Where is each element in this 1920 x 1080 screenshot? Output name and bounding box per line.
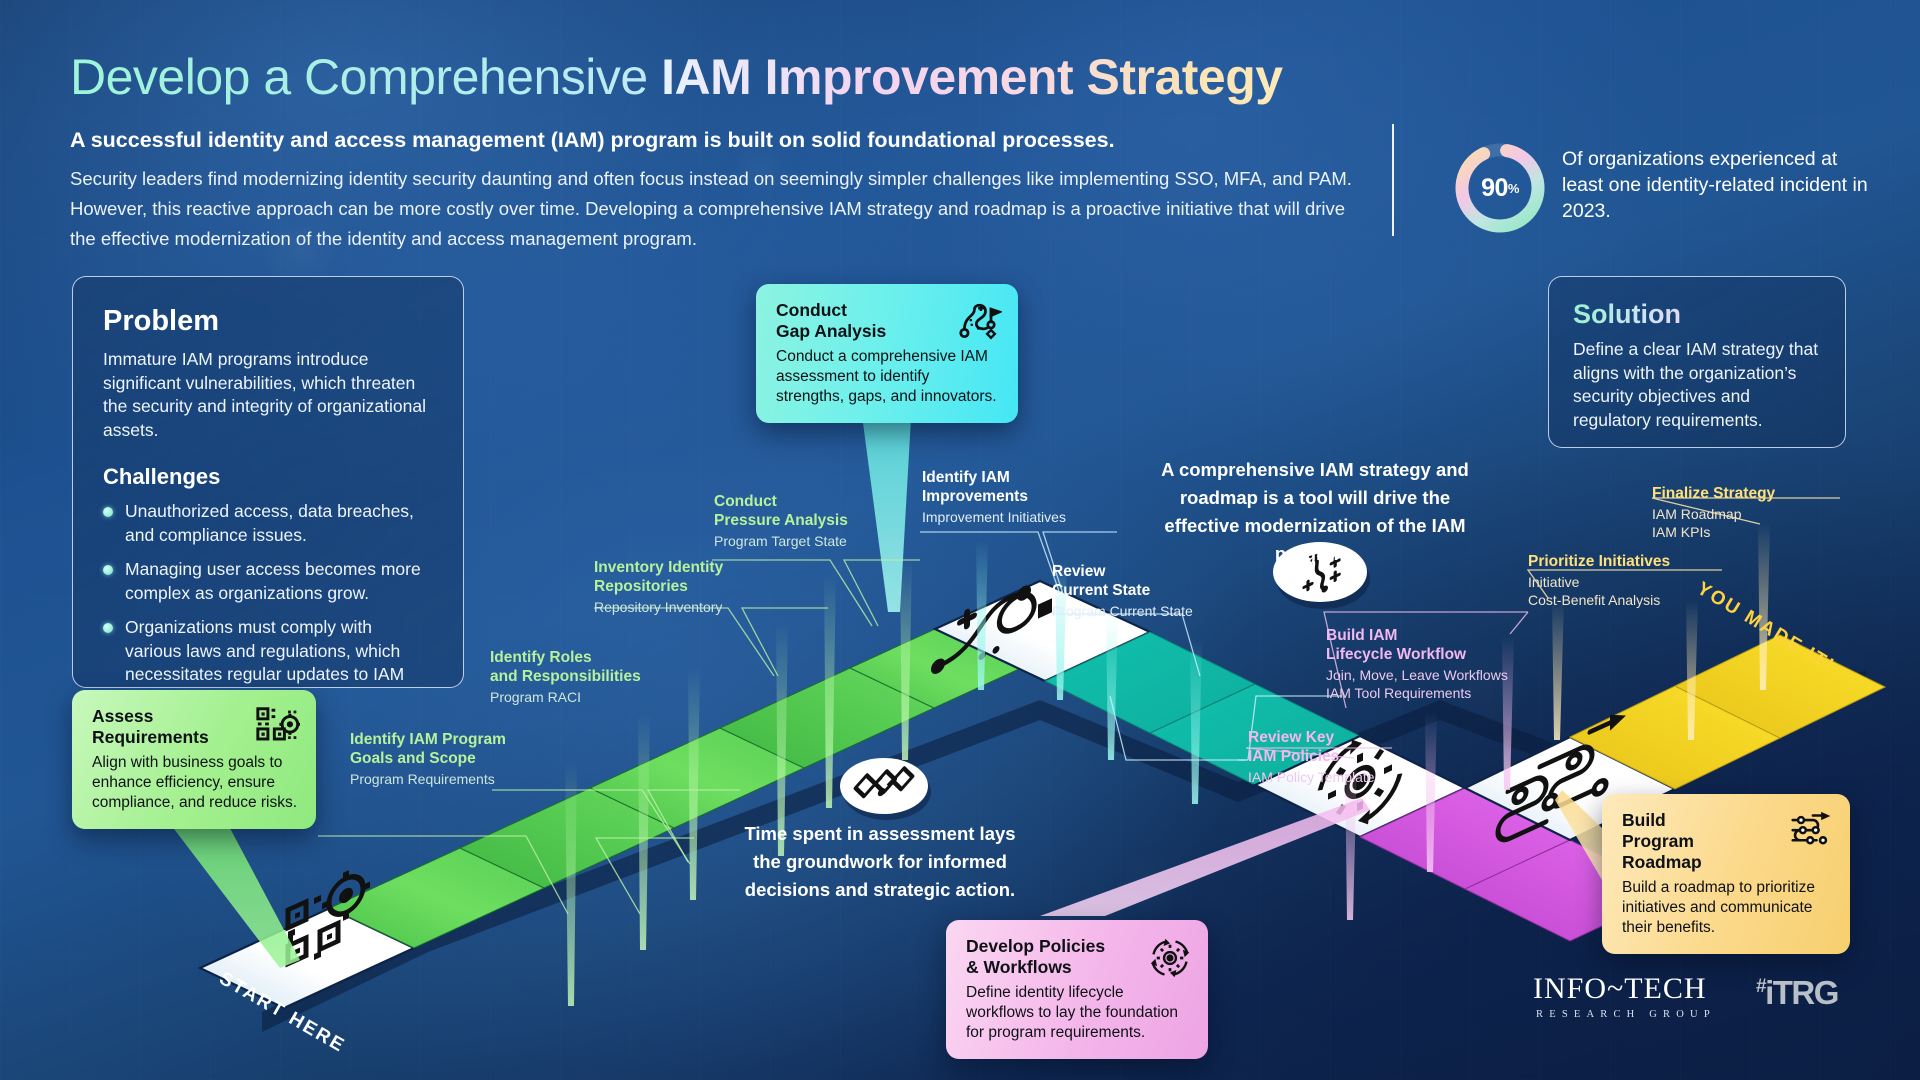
step-subtitle: Program RACI (490, 688, 700, 706)
list-item-label: Managing user access becomes more comple… (125, 559, 421, 603)
step-title: Build IAM Lifecycle Workflow (1326, 626, 1576, 664)
stat-caption: Of organizations experienced at least on… (1562, 146, 1872, 224)
you-made-it-label: YOU MADE IT! (1693, 578, 1839, 678)
strategy-caption: A comprehensive IAM strategy and roadmap… (1160, 456, 1470, 568)
header-body: Security leaders find modernizing identi… (70, 164, 1355, 254)
step-label-finalize-strategy: Finalize Strategy IAM Roadmap IAM KPIs (1652, 484, 1872, 541)
step-title: Identify IAM Program Goals and Scope (350, 730, 560, 768)
tile-step-11 (1675, 635, 1885, 738)
info-tech-logo: INFO~TECH RESEARCH GROUP (1533, 972, 1716, 1020)
qr-target-icon (288, 861, 370, 972)
itrg-logo: #iTRG (1756, 974, 1838, 1012)
step-subtitle: Program Requirements (350, 770, 560, 788)
callout-body: Align with business goals to enhance eff… (92, 753, 298, 813)
step-label-review-key-iam-policies: Review Key IAM Policies IAM Policy Templ… (1248, 728, 1458, 786)
callout-conduct-gap-analysis: Conduct Gap Analysis Conduct a comprehen… (756, 284, 1018, 423)
tile-step-8 (1360, 788, 1570, 889)
bullet-icon (103, 565, 113, 575)
step-label-conduct-pressure-analysis: Conduct Pressure Analysis Program Target… (714, 492, 924, 550)
step-subtitle: Join, Move, Leave Workflows IAM Tool Req… (1326, 666, 1576, 702)
strategy-flag-icon (958, 300, 1002, 344)
step-label-inventory-identity-repositories: Inventory Identity Repositories Reposito… (594, 558, 804, 616)
step-label-identify-iam-program-goals-and-scope: Identify IAM Program Goals and Scope Pro… (350, 730, 560, 788)
step-label-build-iam-lifecycle-workflow: Build IAM Lifecycle Workflow Join, Move,… (1326, 626, 1576, 702)
qr-target-icon (256, 706, 300, 750)
callout-develop-policies-workflows: Develop Policies & Workflows Define iden… (946, 920, 1208, 1059)
callout-body: Conduct a comprehensive IAM assessment t… (776, 347, 1000, 407)
list-item: Unauthorized access, data breaches, and … (103, 500, 433, 547)
beam-policies (1040, 798, 1370, 916)
tile-step-10 (1570, 686, 1780, 789)
step-title: Prioritize Initiatives (1528, 552, 1758, 571)
problem-heading: Problem (103, 305, 433, 338)
callout-body: Build a roadmap to prioritize initiative… (1622, 878, 1832, 938)
step-subtitle: IAM Roadmap IAM KPIs (1652, 505, 1872, 541)
tile-step-4 (720, 668, 934, 768)
step-label-identify-iam-improvements: Identify IAM Improvements Improvement In… (922, 468, 1132, 526)
roadmap-paths-icon (1790, 810, 1834, 854)
beam-roadmap (1555, 790, 1602, 880)
step-subtitle: Program Target State (714, 532, 924, 550)
challenges-heading: Challenges (103, 464, 433, 490)
step-title: Identify IAM Improvements (922, 468, 1132, 506)
callout-assess-requirements: Assess Requirements Align with business … (72, 690, 316, 829)
page-title: Develop a Comprehensive IAM Improvement … (70, 48, 1283, 106)
problem-panel: Problem Immature IAM programs introduce … (72, 276, 464, 688)
strategy-path-icon (931, 573, 1052, 683)
step-title: Identify Roles and Responsibilities (490, 648, 700, 686)
header-divider (1392, 124, 1394, 236)
stat-donut: 90% (1450, 138, 1550, 238)
solution-panel: Solution Define a clear IAM strategy tha… (1548, 276, 1846, 448)
header-lede: A successful identity and access managem… (70, 128, 1360, 153)
tile-step-3 (590, 728, 804, 828)
tile-step-1 (330, 848, 544, 948)
tile-step-2 (460, 788, 674, 888)
tile-step-6 (1045, 632, 1255, 733)
info-tech-logo-tagline: RESEARCH GROUP (1536, 1009, 1716, 1020)
step-subtitle: Program Current State (1052, 602, 1262, 620)
step-title: Review Key IAM Policies (1248, 728, 1458, 766)
bullet-icon (103, 623, 113, 633)
gear-cycle-icon (1148, 936, 1192, 980)
assessment-caption: Time spent in assessment lays the ground… (740, 820, 1020, 904)
callout-body: Define identity lifecycle workflows to l… (966, 983, 1190, 1043)
start-here-label: START HERE (215, 968, 349, 1058)
itrg-name: iTRG (1765, 974, 1838, 1011)
step-label-review-current-state: Review Current State Program Current Sta… (1052, 562, 1262, 620)
solution-body: Define a clear IAM strategy that aligns … (1573, 338, 1821, 432)
step-label-identify-roles-and-responsibilities: Identify Roles and Responsibilities Prog… (490, 648, 700, 706)
step-title: Finalize Strategy (1652, 484, 1872, 503)
solution-heading: Solution (1573, 299, 1821, 330)
callout-build-program-roadmap: Build Program Roadmap Build a roadmap to… (1602, 794, 1850, 954)
step-title: Review Current State (1052, 562, 1262, 600)
step-title: Conduct Pressure Analysis (714, 492, 924, 530)
info-tech-logo-name: INFO~TECH (1533, 972, 1716, 1006)
list-item-label: Unauthorized access, data breaches, and … (125, 501, 414, 545)
binoculars-icon-badge (840, 754, 931, 820)
bullet-icon (103, 507, 113, 517)
stat-value: 90% (1450, 138, 1550, 238)
challenges-list: Unauthorized access, data breaches, and … (103, 500, 433, 710)
step-subtitle: IAM Policy Template (1248, 768, 1458, 786)
step-subtitle: Improvement Initiatives (922, 508, 1132, 526)
page-title-part2: IAM Improvement Strategy (661, 49, 1282, 105)
list-item: Managing user access becomes more comple… (103, 558, 433, 605)
problem-body: Immature IAM programs introduce signific… (103, 348, 433, 442)
step-subtitle: Repository Inventory (594, 598, 804, 616)
itrg-hash: # (1756, 976, 1765, 997)
tile-step-5 (850, 629, 1019, 708)
step-title: Inventory Identity Repositories (594, 558, 804, 596)
page-title-part1: Develop a Comprehensive (70, 49, 661, 105)
